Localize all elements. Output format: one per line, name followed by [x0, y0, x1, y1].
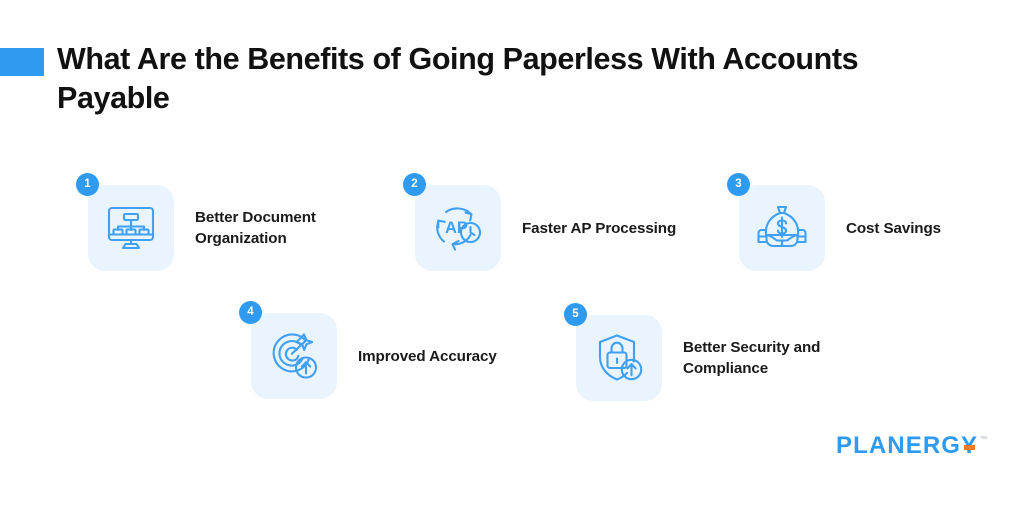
benefit-icon-card-4 [251, 313, 337, 399]
trademark-symbol: ™ [980, 435, 987, 444]
benefit-label-5: Better Security and Compliance [683, 337, 820, 379]
benefit-item-2: 2 AP Faster AP Processing [415, 185, 676, 271]
benefit-icon-card-2: AP [415, 185, 501, 271]
benefit-label-2: Faster AP Processing [522, 218, 676, 239]
benefit-icon-wrap-1: 1 [88, 185, 174, 271]
title-accent-square [0, 48, 44, 76]
benefit-item-4: 4 Improved Accuracy [251, 313, 497, 399]
monitor-org-chart-icon [103, 200, 159, 256]
benefit-item-1: 1 Better Document Organization [88, 185, 316, 271]
svg-text:AP: AP [445, 219, 468, 237]
benefit-number-badge-4: 4 [239, 301, 262, 324]
planergy-wordmark: PLANERGY [836, 432, 978, 459]
benefit-item-5: 5 Better Security and Compliance [576, 315, 820, 401]
benefit-icon-wrap-2: 2 AP [415, 185, 501, 271]
benefit-icon-wrap-3: 3 [739, 185, 825, 271]
benefit-item-3: 3 Cost Savings [739, 185, 941, 271]
benefit-icon-card-5 [576, 315, 662, 401]
benefit-number-badge-2: 2 [403, 173, 426, 196]
benefit-icon-card-1 [88, 185, 174, 271]
benefit-number-badge-5: 5 [564, 303, 587, 326]
benefit-icon-wrap-5: 5 [576, 315, 662, 401]
benefit-label-4: Improved Accuracy [358, 346, 497, 367]
benefit-label-3: Cost Savings [846, 218, 941, 239]
page-title: What Are the Benefits of Going Paperless… [57, 40, 887, 118]
benefit-number-badge-3: 3 [727, 173, 750, 196]
hands-money-bag-icon [753, 199, 811, 257]
benefit-icon-card-3 [739, 185, 825, 271]
benefit-label-1: Better Document Organization [195, 207, 316, 249]
planergy-logo-text: PLANERGY [836, 434, 978, 458]
planergy-logo: PLANERGY ™ [836, 434, 987, 458]
ap-cycle-clock-icon: AP [429, 199, 487, 257]
benefit-icon-wrap-4: 4 [251, 313, 337, 399]
target-arrow-up-icon [265, 327, 323, 385]
benefit-number-badge-1: 1 [76, 173, 99, 196]
planergy-g-accent [964, 445, 975, 450]
shield-lock-up-icon [590, 329, 648, 387]
